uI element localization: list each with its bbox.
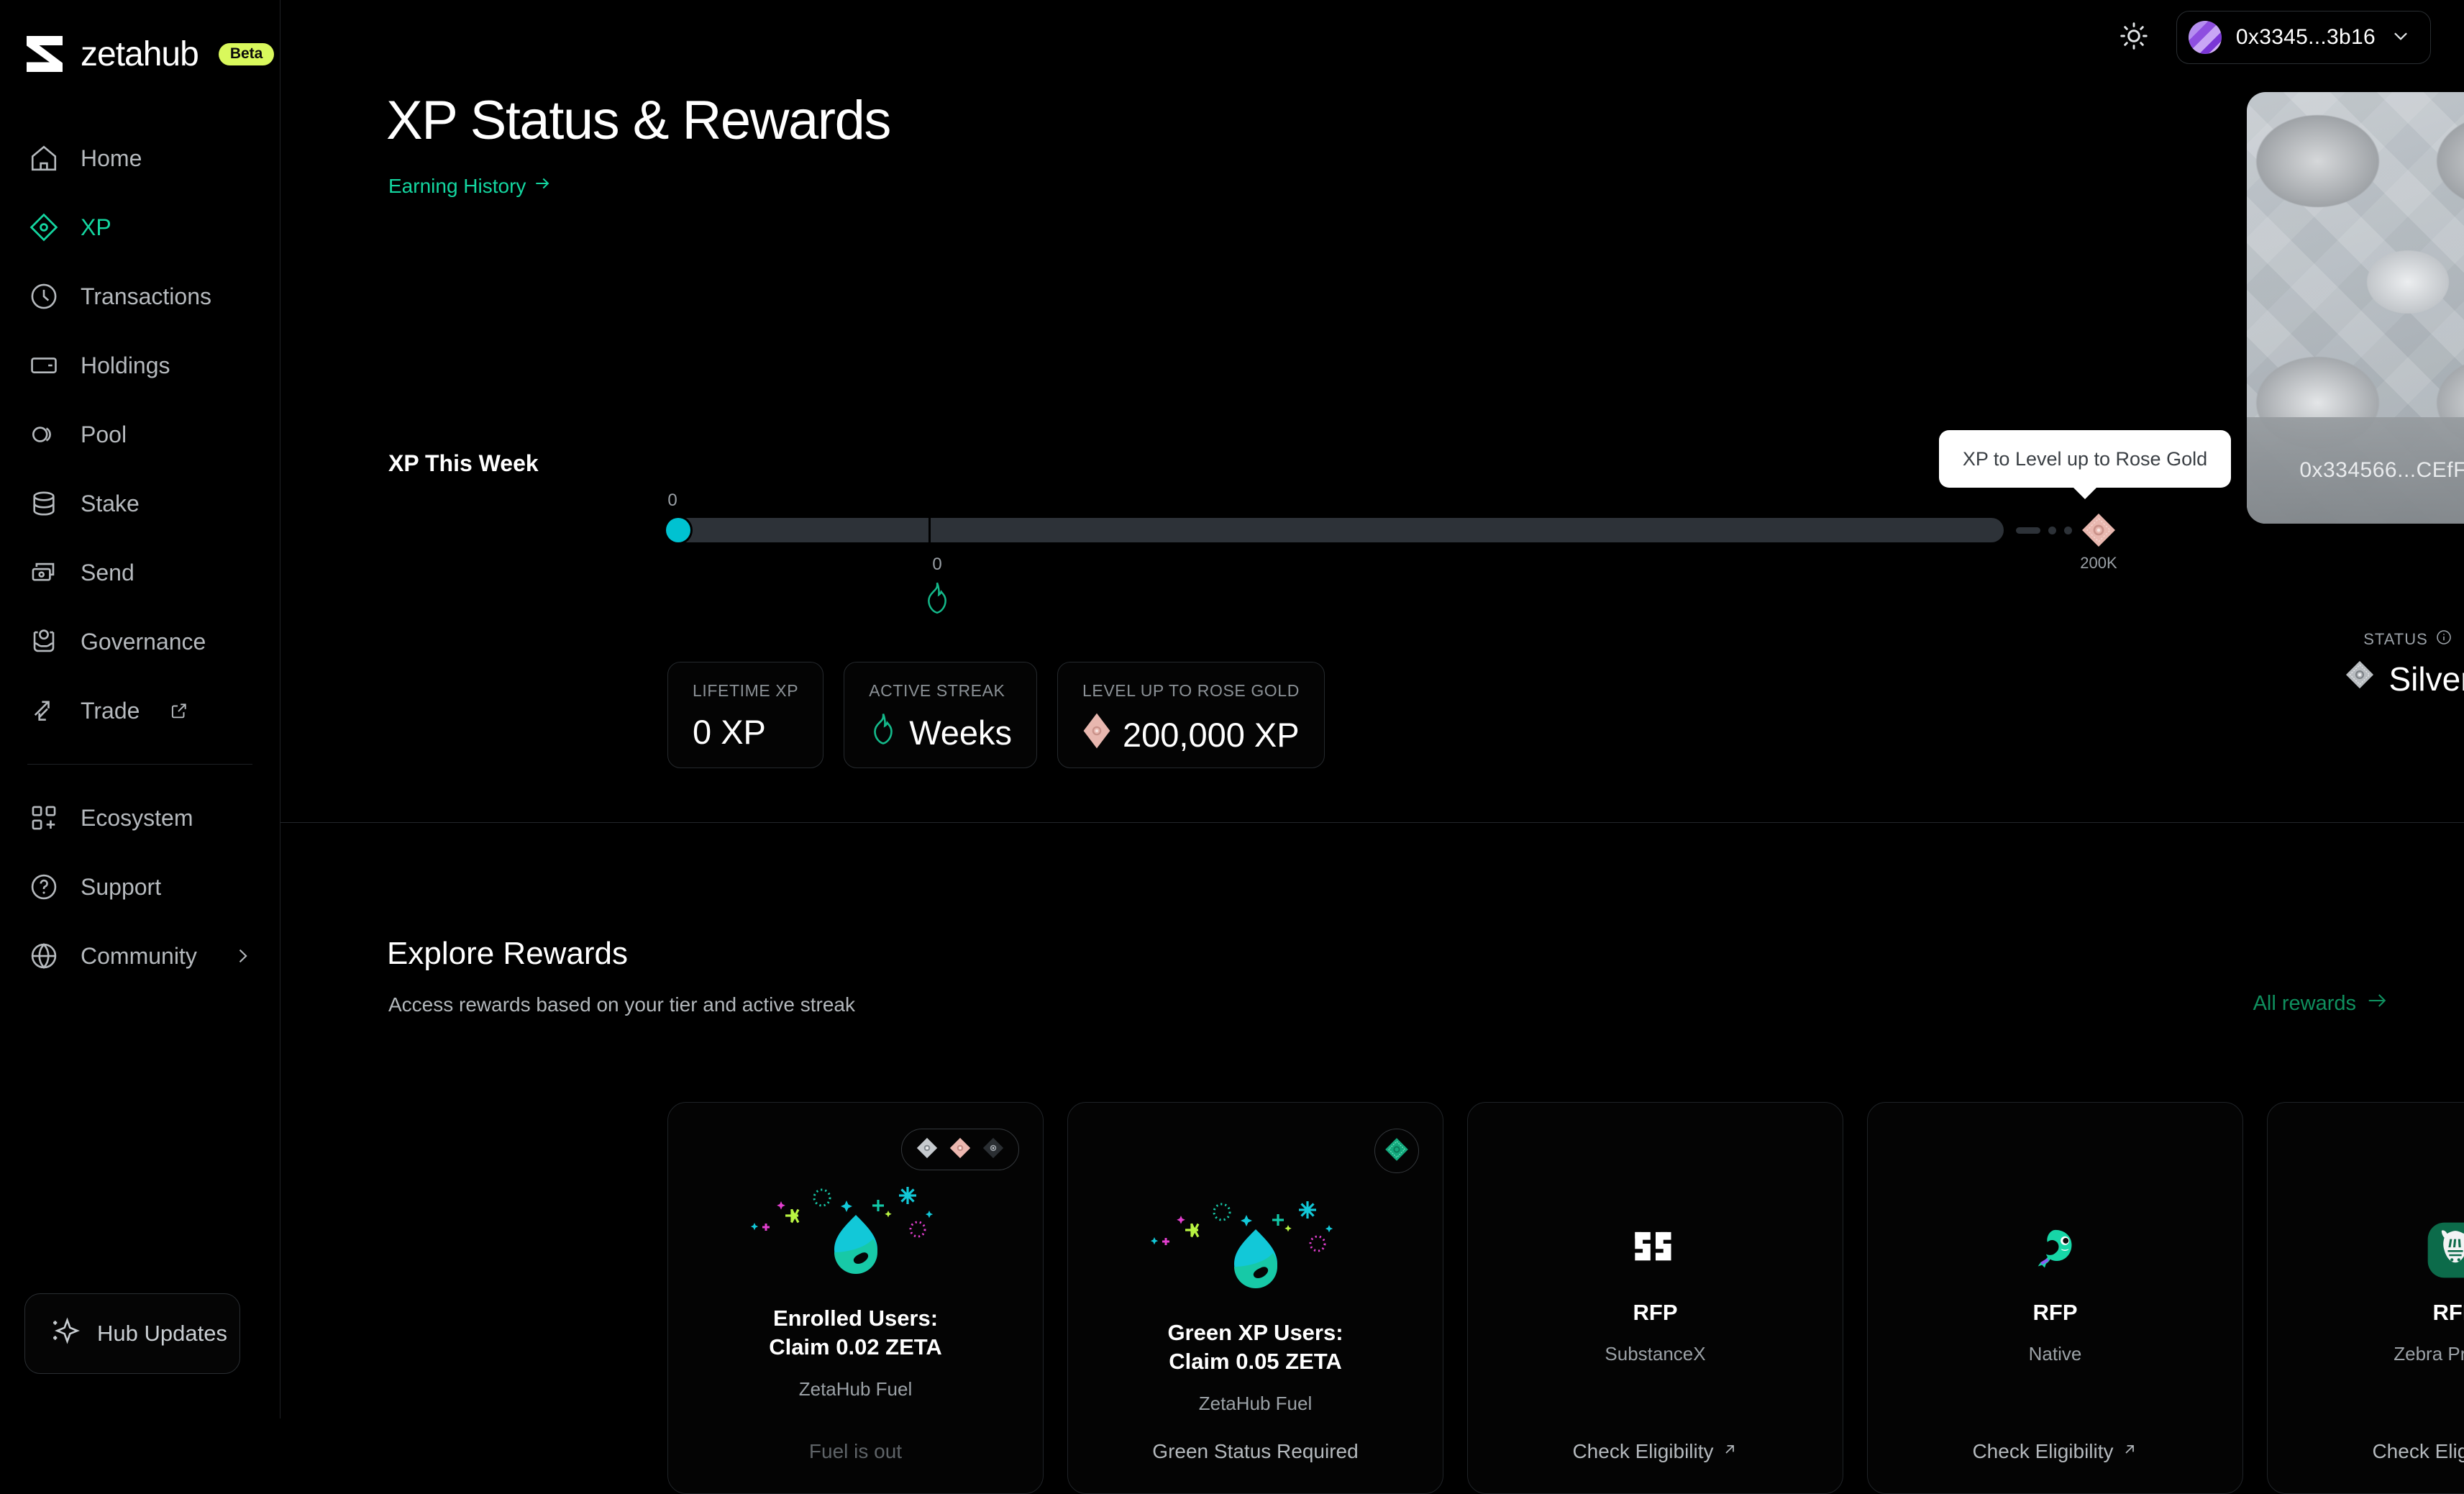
progress-dot-1: [2048, 527, 2056, 534]
stat-label: LIFETIME XP: [693, 681, 798, 701]
stat-value-wrap: Weeks: [869, 712, 1012, 753]
governance-icon: [27, 625, 60, 658]
reward-cards: Enrolled Users:Claim 0.02 ZETA ZetaHub F…: [667, 1102, 2464, 1494]
chevron-down-icon: [2390, 25, 2411, 50]
sidebar-item-label: Community: [81, 943, 197, 970]
silver-diamond-icon: [2344, 659, 2376, 698]
substancex-logo-icon: [1537, 1218, 1774, 1283]
zetahub-logo-icon: [24, 34, 65, 74]
external-arrow-icon: [1721, 1440, 1738, 1463]
reward-card-title: Green XP Users:Claim 0.05 ZETA: [1167, 1318, 1343, 1377]
brand-logo[interactable]: zetahub Beta: [0, 0, 280, 86]
reward-card-title: Enrolled Users:Claim 0.02 ZETA: [769, 1304, 942, 1362]
sidebar-divider: [27, 764, 252, 765]
green-diamond-icon: [1383, 1136, 1410, 1167]
reward-card-action[interactable]: Check Eligibility: [1868, 1440, 2242, 1463]
stat-value: Weeks: [909, 713, 1012, 752]
sidebar-item-label: Stake: [81, 491, 140, 517]
stat-cards: LIFETIME XP 0 XP ACTIVE STREAK Weeks LEV…: [667, 662, 1325, 768]
home-icon: [27, 142, 60, 175]
level-up-tooltip: XP to Level up to Rose Gold: [1939, 430, 2231, 488]
sun-icon: [2118, 20, 2150, 55]
reward-card-action[interactable]: Check Eligibility: [1468, 1440, 1843, 1463]
rose-gold-diamond-icon[interactable]: [2080, 511, 2117, 549]
stat-card-active-streak: ACTIVE STREAK Weeks: [844, 662, 1037, 768]
chevron-right-icon: [232, 946, 252, 966]
tooltip-text: XP to Level up to Rose Gold: [1963, 448, 2207, 470]
sidebar-item-stake[interactable]: Stake: [0, 469, 280, 538]
pool-icon: [27, 418, 60, 451]
sidebar-item-label: XP: [81, 214, 111, 241]
database-icon: [27, 487, 60, 520]
all-rewards-label: All rewards: [2253, 992, 2356, 1016]
zeta-fuel-droplet-art: [1137, 1196, 1374, 1318]
explore-rewards-subtitle: Access rewards based on your tier and ac…: [388, 993, 855, 1016]
reward-card-action-label: Check Eligibility: [2372, 1440, 2464, 1463]
globe-icon: [27, 939, 60, 973]
info-icon[interactable]: [2435, 629, 2452, 650]
rose-gold-diamond-icon: [948, 1136, 972, 1164]
flame-icon: [869, 712, 898, 753]
native-chameleon-logo-icon: [1937, 1218, 2174, 1283]
status-label: STATUS: [2363, 630, 2428, 649]
progress-knob[interactable]: [666, 518, 690, 542]
reward-card-subtitle: ZetaHub Fuel: [1199, 1393, 1313, 1415]
theme-toggle-button[interactable]: [2113, 17, 2155, 58]
stat-label: LEVEL UP TO ROSE GOLD: [1082, 681, 1300, 701]
sidebar-item-label: Send: [81, 560, 134, 586]
reward-card-rfp-substancex[interactable]: RFP SubstanceX Check Eligibility: [1467, 1102, 1843, 1494]
reward-card-subtitle: Native: [2029, 1343, 2082, 1365]
flame-icon: [923, 580, 952, 615]
reward-card-action-label: Fuel is out: [809, 1440, 902, 1463]
sidebar-item-support[interactable]: Support: [0, 852, 280, 921]
streak-value: 0: [932, 555, 941, 575]
reward-card-green-xp-users[interactable]: Green XP Users:Claim 0.05 ZETA ZetaHub F…: [1067, 1102, 1443, 1494]
zeta-fuel-droplet-art: [737, 1182, 975, 1304]
question-circle-icon: [27, 870, 60, 903]
all-rewards-link[interactable]: All rewards: [2253, 990, 2388, 1017]
reward-card-title: RFP: [2033, 1298, 2078, 1327]
xp-this-week-label: XP This Week: [388, 450, 539, 477]
primary-nav: Home XP Transactions Holdings Pool: [0, 124, 280, 745]
sidebar-item-label: Pool: [81, 422, 127, 448]
external-link-icon: [170, 701, 188, 720]
hub-updates-button[interactable]: Hub Updates: [24, 1293, 240, 1374]
xp-start-value: 0: [667, 491, 677, 511]
sidebar-item-trade[interactable]: Trade: [0, 676, 280, 745]
stat-label: ACTIVE STREAK: [869, 681, 1012, 701]
avatar: [2189, 21, 2222, 54]
clock-icon: [27, 280, 60, 313]
sidebar-item-transactions[interactable]: Transactions: [0, 262, 280, 331]
progress-track: [666, 518, 2004, 542]
sidebar-item-label: Ecosystem: [81, 805, 193, 832]
reward-card-action[interactable]: Check Eligibility: [2268, 1440, 2464, 1463]
reward-card-title: RFP: [2433, 1298, 2464, 1327]
nft-preview[interactable]: 0x334566...CEfF3b16: [2247, 92, 2464, 524]
wallet-button[interactable]: 0x3345...3b16: [2176, 11, 2431, 64]
xp-diamond-icon: [27, 211, 60, 244]
progress-tick: [928, 516, 931, 544]
sidebar: zetahub Beta Home XP Transactions H: [0, 0, 280, 1418]
grid-plus-icon: [27, 801, 60, 834]
hub-updates-wrap: Hub Updates: [0, 1293, 280, 1418]
sidebar-item-pool[interactable]: Pool: [0, 400, 280, 469]
silver-diamond-icon: [915, 1136, 939, 1164]
sidebar-item-label: Holdings: [81, 352, 170, 379]
send-money-icon: [27, 556, 60, 589]
page-title: XP Status & Rewards: [386, 89, 890, 152]
sidebar-item-xp[interactable]: XP: [0, 193, 280, 262]
nft-address: 0x334566...CEfF3b16: [2247, 417, 2464, 524]
reward-card-title: RFP: [1633, 1298, 1678, 1327]
status-value-row: Silver: [2247, 659, 2464, 698]
beta-badge: Beta: [219, 43, 275, 65]
tier-badges: [901, 1129, 1019, 1170]
hub-updates-label: Hub Updates: [97, 1321, 227, 1347]
tier-badge-green: [1374, 1129, 1419, 1173]
sidebar-item-community[interactable]: Community: [0, 921, 280, 990]
rose-gold-diamond-icon: [1082, 712, 1111, 757]
main-content: XP Status & Rewards Earning History XP T…: [280, 75, 2464, 1418]
reward-card-rfp-zebra[interactable]: RFP Zebra Protocol Check Eligibility: [2267, 1102, 2464, 1494]
trade-arrows-icon: [27, 694, 60, 727]
reward-card-action-label: Check Eligibility: [1972, 1440, 2113, 1463]
brand-name: zetahub: [81, 35, 199, 74]
xp-progress-bar[interactable]: 200K: [666, 518, 2032, 542]
reward-card-enrolled-users[interactable]: Enrolled Users:Claim 0.02 ZETA ZetaHub F…: [667, 1102, 1044, 1494]
secondary-nav: Ecosystem Support Community: [0, 783, 280, 990]
wallet-address: 0x3345...3b16: [2236, 25, 2376, 50]
reward-card-action-label: Green Status Required: [1152, 1440, 1358, 1463]
stat-card-lifetime-xp: LIFETIME XP 0 XP: [667, 662, 823, 768]
reward-card-rfp-native[interactable]: RFP Native Check Eligibility: [1867, 1102, 2243, 1494]
zebra-protocol-logo-icon: [2337, 1218, 2464, 1283]
sidebar-item-label: Transactions: [81, 283, 211, 310]
reward-card-subtitle: SubstanceX: [1605, 1343, 1705, 1365]
section-divider: [280, 822, 2464, 823]
explore-rewards-title: Explore Rewards: [387, 936, 628, 972]
progress-dash: [2016, 527, 2040, 534]
status-row: STATUS: [2247, 629, 2464, 650]
sidebar-item-holdings[interactable]: Holdings: [0, 331, 280, 400]
reward-card-action[interactable]: Fuel is out: [668, 1440, 1043, 1463]
earning-history-label: Earning History: [388, 175, 526, 198]
earning-history-link[interactable]: Earning History: [388, 174, 552, 198]
external-arrow-icon: [2121, 1440, 2138, 1463]
arrow-right-icon: [533, 174, 552, 198]
reward-card-subtitle: ZetaHub Fuel: [799, 1378, 913, 1400]
sidebar-item-ecosystem[interactable]: Ecosystem: [0, 783, 280, 852]
card-icon: [27, 349, 60, 382]
stat-value: 200,000 XP: [1123, 715, 1300, 755]
sidebar-item-label: Support: [81, 874, 161, 901]
reward-card-action-label: Check Eligibility: [1572, 1440, 1713, 1463]
progress-dot-2: [2064, 527, 2072, 534]
arrow-right-icon: [2366, 990, 2388, 1017]
xp-end-value: 200K: [2080, 554, 2117, 573]
top-bar: 0x3345...3b16: [280, 0, 2464, 75]
sidebar-item-label: Governance: [81, 629, 206, 655]
reward-card-action[interactable]: Green Status Required: [1068, 1440, 1443, 1463]
stat-card-level-up: LEVEL UP TO ROSE GOLD 200,000 XP: [1057, 662, 1325, 768]
status-value: Silver: [2388, 660, 2464, 698]
sidebar-item-governance[interactable]: Governance: [0, 607, 280, 676]
sparkle-icon: [50, 1316, 80, 1352]
sidebar-item-home[interactable]: Home: [0, 124, 280, 193]
sidebar-item-send[interactable]: Send: [0, 538, 280, 607]
stat-value: 0 XP: [693, 712, 766, 752]
dark-diamond-icon: [981, 1136, 1005, 1164]
sidebar-item-label: Trade: [81, 698, 140, 724]
stat-value-wrap: 200,000 XP: [1082, 712, 1300, 757]
stat-value-wrap: 0 XP: [693, 712, 798, 752]
reward-card-subtitle: Zebra Protocol: [2394, 1343, 2464, 1365]
sidebar-item-label: Home: [81, 145, 142, 172]
